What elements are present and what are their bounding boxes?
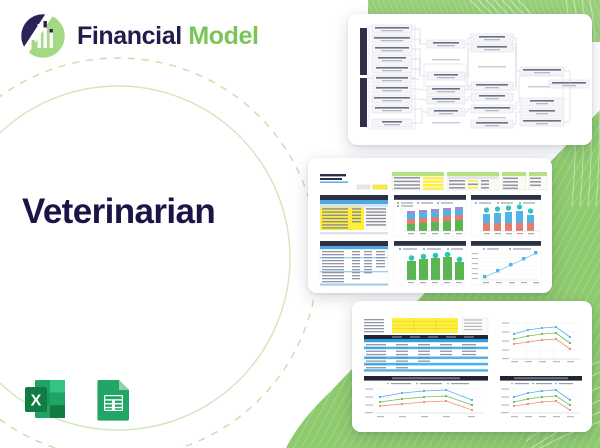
screenshot-card-statements[interactable] bbox=[352, 301, 592, 432]
brand-logo[interactable]: Financial Model bbox=[20, 13, 259, 59]
statements-table bbox=[364, 318, 488, 372]
chart-revenue-streams bbox=[394, 195, 466, 236]
panel-case-inputs bbox=[320, 195, 388, 234]
google-sheets-icon[interactable] bbox=[90, 376, 137, 423]
dashboard-top-panels bbox=[392, 172, 547, 190]
chart-investment-payback bbox=[471, 241, 541, 285]
chart-statements-top-right bbox=[500, 318, 582, 366]
statements-screenshot bbox=[352, 301, 592, 432]
screenshot-card-dashboard[interactable] bbox=[308, 158, 552, 293]
filetype-icon-group: X bbox=[22, 376, 137, 423]
pie-bar-chart-circle-logo bbox=[20, 13, 66, 59]
financial-dashboard-screenshot bbox=[308, 158, 552, 293]
chart-cash-flow bbox=[394, 241, 466, 285]
excel-letter: X bbox=[31, 393, 42, 410]
chart-profitability bbox=[471, 195, 541, 236]
cover-slide: Financial Model Veterinarian X bbox=[0, 0, 600, 448]
excel-icon[interactable]: X bbox=[22, 376, 69, 423]
brand-name-part2: Model bbox=[188, 22, 258, 50]
diagram-nodes-column-1 bbox=[372, 25, 412, 127]
brand-name-part1: Financial bbox=[77, 22, 182, 50]
brand-name: Financial Model bbox=[77, 24, 259, 49]
screenshot-card-dupont-diagram[interactable] bbox=[348, 14, 592, 145]
dupont-analysis-diagram bbox=[348, 14, 592, 145]
page-title: Veterinarian bbox=[22, 194, 215, 229]
panel-key-financials bbox=[320, 241, 388, 286]
